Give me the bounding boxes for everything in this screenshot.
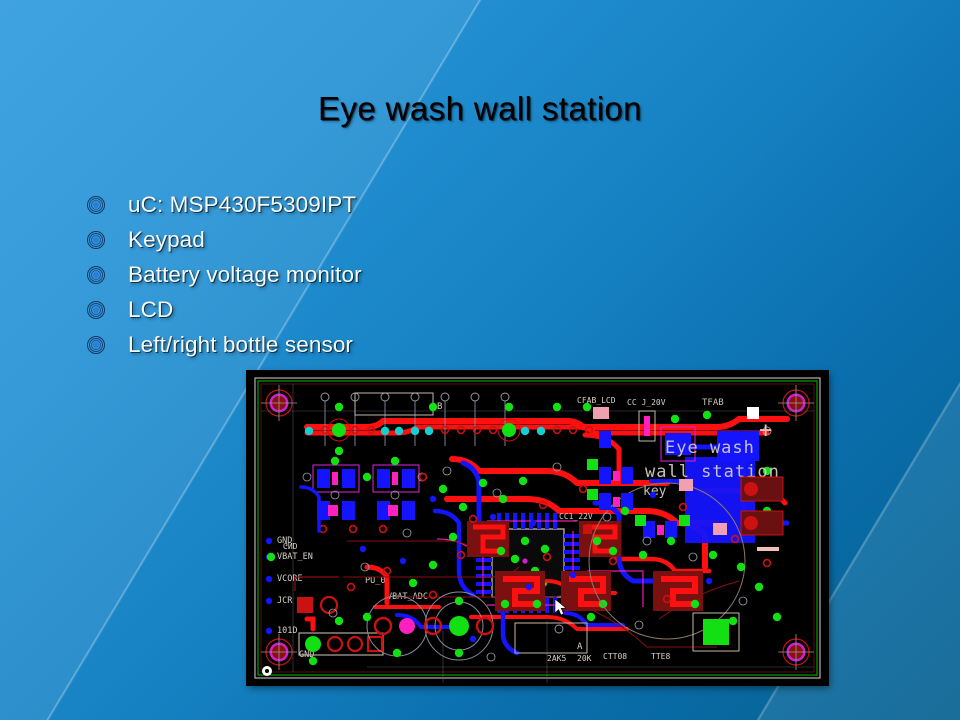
list-item: LCD <box>86 293 646 326</box>
svg-text:101D: 101D <box>277 626 297 636</box>
svg-text:Eye wash: Eye wash <box>665 438 755 458</box>
svg-text:JCR: JCR <box>277 596 293 606</box>
concentric-circles-icon <box>86 264 108 286</box>
svg-text:20K: 20K <box>577 654 592 663</box>
svg-text:CFAB_LCD: CFAB_LCD <box>577 396 616 405</box>
svg-text:VBAT_EN: VBAT_EN <box>277 552 313 562</box>
bullet-label: LCD <box>128 297 173 323</box>
svg-text:2AK5: 2AK5 <box>547 654 566 663</box>
svg-text:CTT08: CTT08 <box>603 652 627 661</box>
concentric-circles-icon <box>86 194 108 216</box>
svg-text:B: B <box>437 402 442 412</box>
bullet-label: uC: MSP430F5309IPT <box>128 192 356 218</box>
svg-text:CC J_20V: CC J_20V <box>627 398 666 407</box>
concentric-circles-icon <box>86 334 108 356</box>
pcb-layout-image: B <box>247 371 828 685</box>
list-item: Keypad <box>86 223 646 256</box>
slide-title: Eye wash wall station <box>0 90 960 128</box>
bullet-label: Left/right bottle sensor <box>128 332 353 358</box>
list-item: uC: MSP430F5309IPT <box>86 188 646 221</box>
svg-text:+: + <box>759 418 772 443</box>
svg-text:TFAB: TFAB <box>702 398 724 408</box>
bullet-label: Battery voltage monitor <box>128 262 362 288</box>
list-item: Left/right bottle sensor <box>86 328 646 361</box>
svg-text:CC1_22V: CC1_22V <box>559 512 593 521</box>
pcb-layout-graphic: B <box>247 371 828 685</box>
svg-text:TTE8: TTE8 <box>651 652 670 661</box>
bullet-list: uC: MSP430F5309IPT Keypad Battery voltag… <box>86 188 646 363</box>
svg-text:A: A <box>577 642 583 652</box>
presentation-slide: Eye wash wall station uC: MSP430F5309IPT… <box>0 0 960 720</box>
svg-text:GND: GND <box>277 536 292 546</box>
svg-text:VCORE: VCORE <box>277 574 303 584</box>
bullet-label: Keypad <box>128 227 205 253</box>
concentric-circles-icon <box>86 229 108 251</box>
list-item: Battery voltage monitor <box>86 258 646 291</box>
concentric-circles-icon <box>86 299 108 321</box>
